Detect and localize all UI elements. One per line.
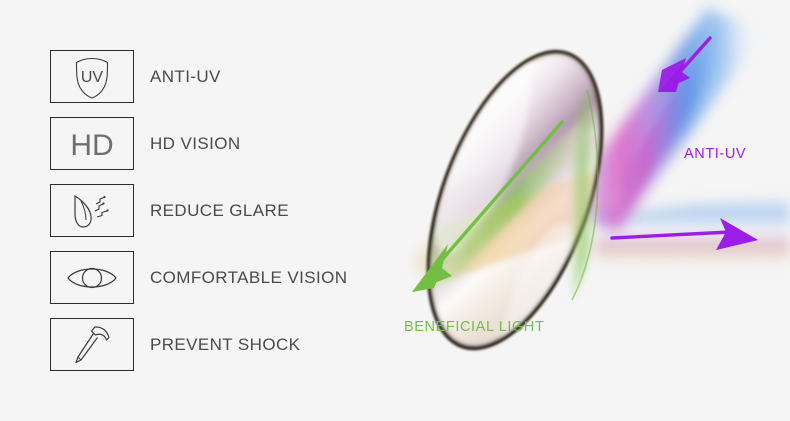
feature-label-reduce-glare: REDUCE GLARE xyxy=(150,201,289,221)
feature-row-reduce-glare: REDUCE GLARE xyxy=(50,184,410,237)
feature-label-anti-uv: ANTI-UV xyxy=(150,67,221,87)
feature-row-comfortable-vision: COMFORTABLE VISION xyxy=(50,251,410,304)
uv-shield-icon: UV xyxy=(50,50,134,103)
infographic-canvas: UV ANTI-UV HD HD VISION xyxy=(0,0,790,421)
feature-row-anti-uv: UV ANTI-UV xyxy=(50,50,410,103)
beneficial-light-beam-label: BENEFICIAL LIGHT xyxy=(404,319,544,335)
optical-lens-light-diagram xyxy=(390,0,790,421)
feature-list: UV ANTI-UV HD HD VISION xyxy=(50,50,410,385)
hd-badge-text: HD xyxy=(70,129,113,162)
eye-icon xyxy=(50,251,134,304)
feature-label-comfortable-vision: COMFORTABLE VISION xyxy=(150,268,347,288)
anti-uv-beam-label: ANTI-UV xyxy=(684,146,746,162)
feature-row-hd-vision: HD HD VISION xyxy=(50,117,410,170)
hammer-icon xyxy=(50,318,134,371)
uv-badge-text: UV xyxy=(81,69,104,86)
feature-label-prevent-shock: PREVENT SHOCK xyxy=(150,335,300,355)
feature-row-prevent-shock: PREVENT SHOCK xyxy=(50,318,410,371)
glare-deflect-icon xyxy=(50,184,134,237)
feature-label-hd-vision: HD VISION xyxy=(150,134,241,154)
hd-text-icon: HD xyxy=(50,117,134,170)
